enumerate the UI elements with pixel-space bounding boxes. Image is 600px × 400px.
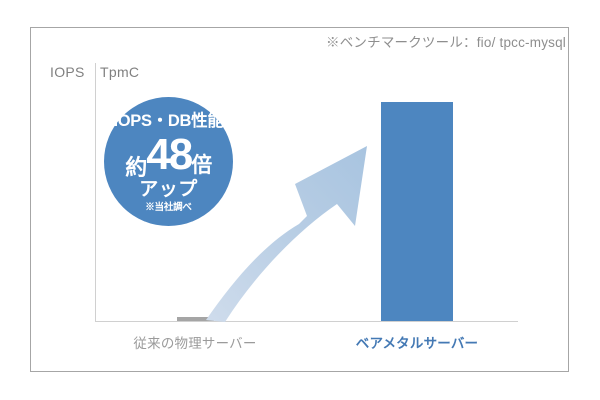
badge-times-suffix: 倍 <box>191 154 212 177</box>
badge-up-label: アップ <box>104 180 233 199</box>
badge-multiplier-value: 48 <box>146 130 191 179</box>
badge-footnote: ※当社調べ <box>104 203 233 213</box>
category-label-baremetal-server: ベアメタルサーバー <box>356 332 479 352</box>
badge-multiplier: 約48倍 <box>104 133 233 179</box>
category-label-legacy-server: 従来の物理サーバー <box>133 332 256 352</box>
benchmark-note: ※ベンチマークツール：fio/ tpcc-mysql <box>326 35 566 51</box>
axis-unit-label-tpmc: TpmC <box>100 64 139 80</box>
badge-headline: IOPS・DB性能 <box>104 113 233 130</box>
bar-baremetal-server <box>381 102 453 321</box>
y-axis-line <box>95 63 96 321</box>
chart-canvas: ※ベンチマークツール：fio/ tpcc-mysql IOPS TpmC IOP… <box>0 0 600 400</box>
axis-unit-label-iops: IOPS <box>50 64 85 80</box>
highlight-badge: IOPS・DB性能 約48倍 アップ ※当社調べ <box>104 97 233 226</box>
badge-approx-prefix: 約 <box>125 155 146 180</box>
